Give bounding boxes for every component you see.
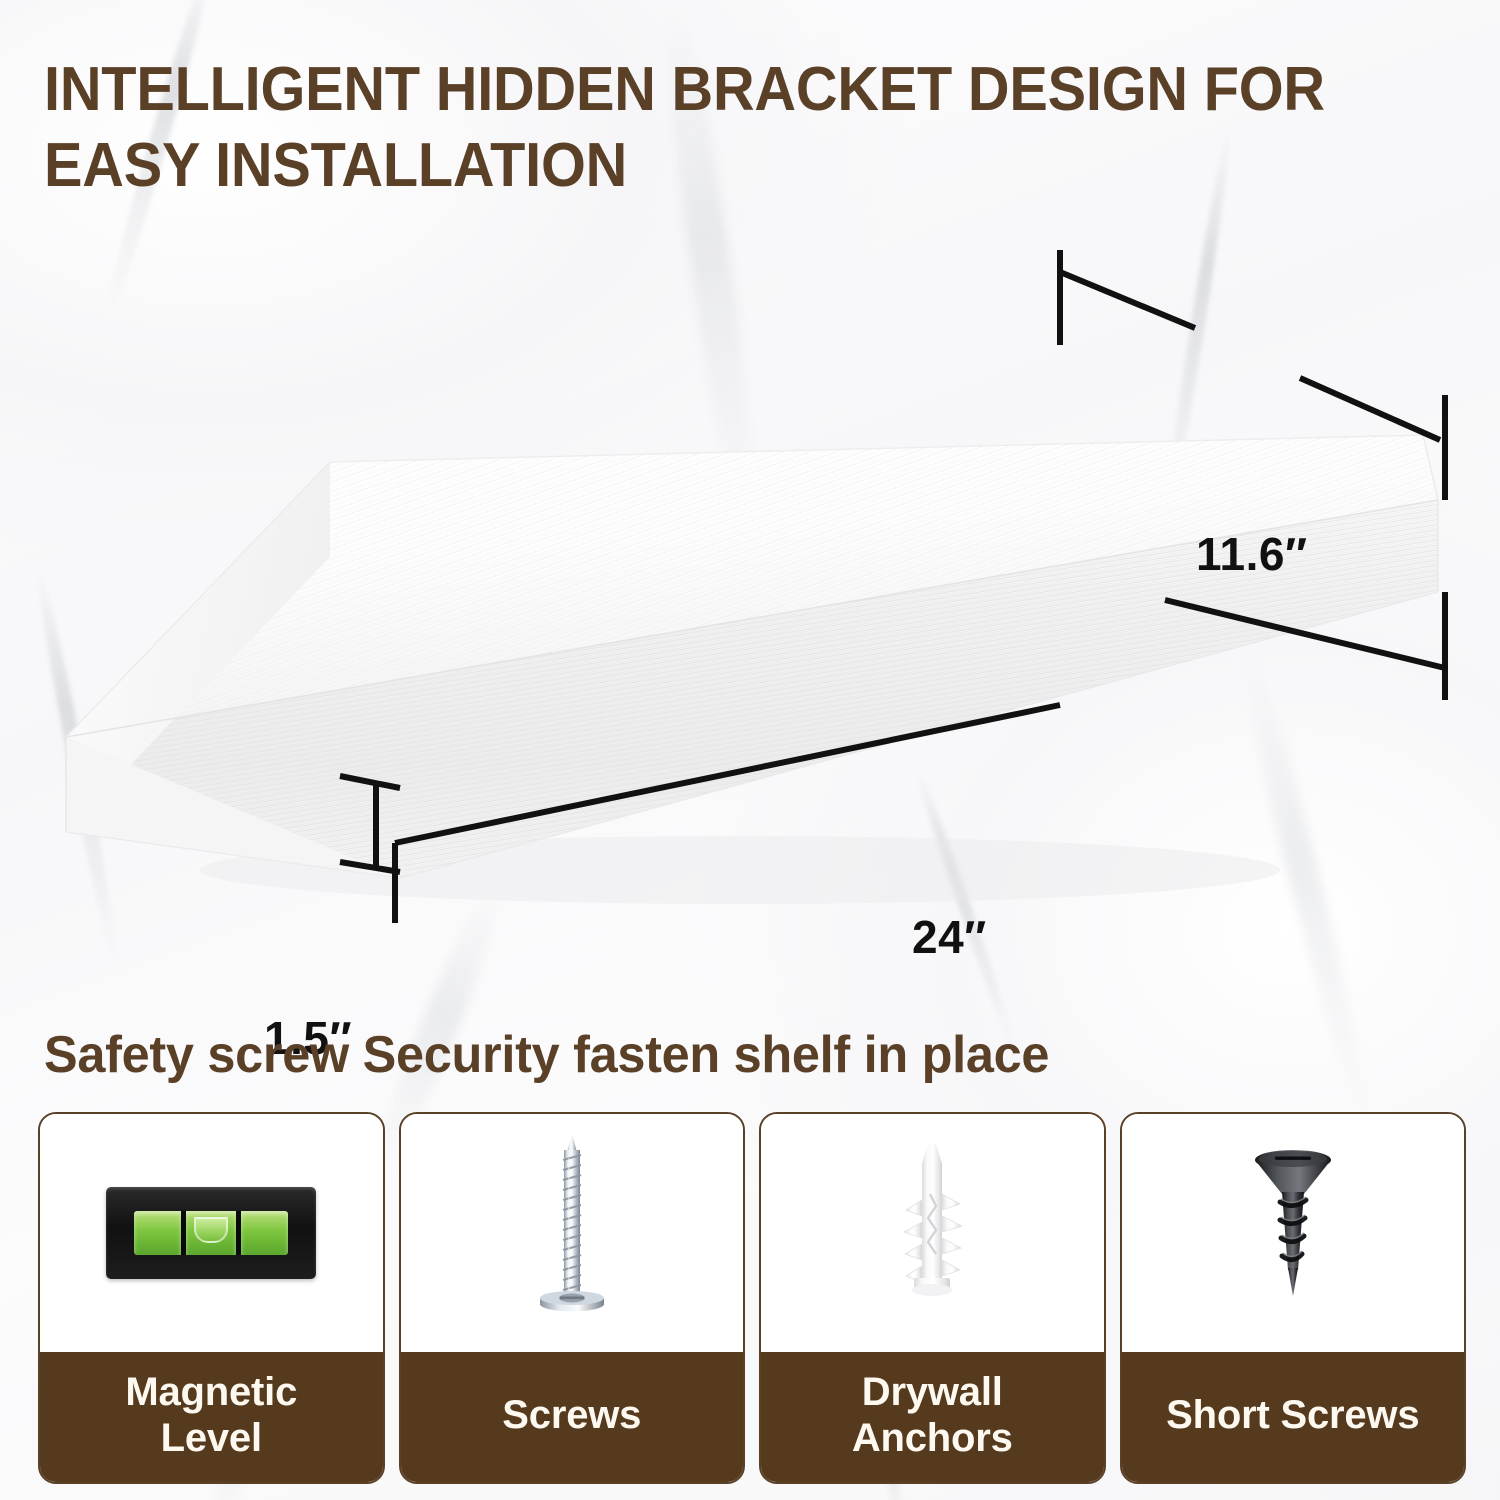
depth-dimension-label: 11.6″ (1196, 527, 1308, 581)
long-screw-icon (517, 1128, 627, 1338)
magnetic-level-icon (106, 1187, 316, 1279)
short-screw-icon (1228, 1138, 1358, 1328)
hardware-card-screws[interactable]: Screws (399, 1112, 746, 1484)
drywall-anchor-icon (872, 1138, 992, 1328)
card-label: Short Screws (1122, 1352, 1465, 1482)
product-infographic: INTELLIGENT HIDDEN BRACKET DESIGN FOR EA… (0, 0, 1500, 1500)
shelf-diagram: 11.6″ 24″ 1.5″ (0, 200, 1500, 990)
card-label: Magnetic Level (40, 1352, 383, 1482)
card-media (401, 1114, 744, 1352)
width-dimension-label: 24″ (912, 910, 987, 964)
card-label: Drywall Anchors (761, 1352, 1104, 1482)
card-media (1122, 1114, 1465, 1352)
hardware-card-drywall-anchors[interactable]: Drywall Anchors (759, 1112, 1106, 1484)
card-media (761, 1114, 1104, 1352)
card-media (40, 1114, 383, 1352)
hardware-card-row: Magnetic Level (38, 1112, 1466, 1484)
hardware-card-magnetic-level[interactable]: Magnetic Level (38, 1112, 385, 1484)
section-subtitle: Safety screw Security fasten shelf in pl… (44, 1024, 1049, 1086)
page-title: INTELLIGENT HIDDEN BRACKET DESIGN FOR EA… (44, 52, 1365, 204)
card-label: Screws (401, 1352, 744, 1482)
hardware-card-short-screws[interactable]: Short Screws (1120, 1112, 1467, 1484)
